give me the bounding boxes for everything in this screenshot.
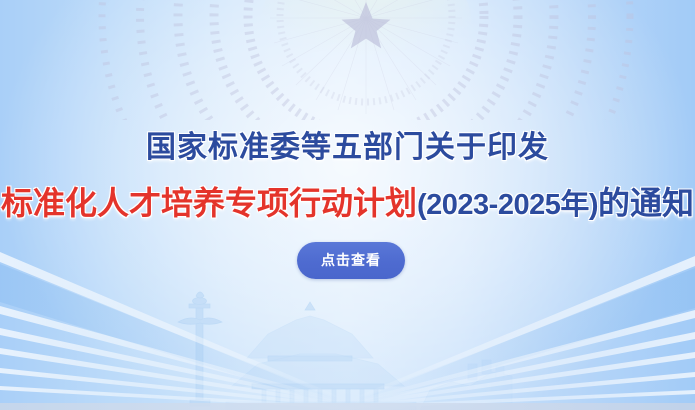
view-detail-button[interactable]: 点击查看 [297,242,405,279]
banner-title-line-1: 国家标准委等五部门关于印发 [0,122,695,166]
banner-title-plan-name: 标准化人才培养专项行动计划 [1,185,417,221]
banner-title-line-2: 标准化人才培养专项行动计划(2023-2025年)的通知 [0,178,695,224]
banner-content: 国家标准委等五部门关于印发 标准化人才培养专项行动计划(2023-2025年)的… [0,0,695,410]
banner-title-suffix: 的通知 [598,185,694,221]
policy-banner: 国家标准委等五部门关于印发 标准化人才培养专项行动计划(2023-2025年)的… [0,0,695,410]
banner-title-years: (2023-2025年) [417,189,598,221]
